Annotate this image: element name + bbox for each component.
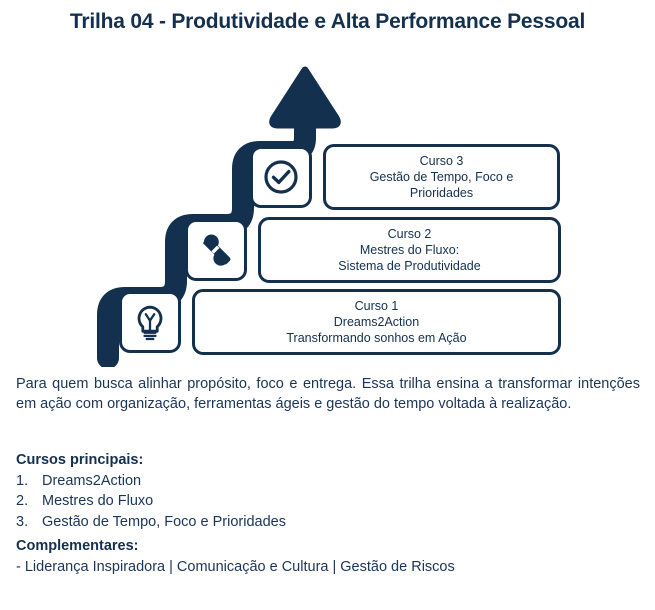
course-card-3-line-2: Gestão de Tempo, Foco e bbox=[370, 169, 514, 185]
course-card-1-line-3: Transformando sonhos em Ação bbox=[286, 330, 466, 346]
list-item: 1. Dreams2Action bbox=[16, 471, 286, 492]
course-card-2-line-1: Curso 2 bbox=[388, 226, 432, 242]
cursos-principais-heading: Cursos principais: bbox=[16, 450, 286, 471]
check-circle-icon bbox=[250, 146, 312, 208]
course-card-2-line-2: Mestres do Fluxo: bbox=[360, 242, 459, 258]
description-paragraph: Para quem busca alinhar propósito, foco … bbox=[16, 374, 640, 414]
step-curso-1[interactable]: Curso 1 Dreams2Action Transformando sonh… bbox=[119, 289, 561, 355]
list-item-label: Mestres do Fluxo bbox=[42, 491, 153, 512]
list-item: 2. Mestres do Fluxo bbox=[16, 491, 286, 512]
cursos-principais-list: 1. Dreams2Action 2. Mestres do Fluxo 3. … bbox=[16, 471, 286, 533]
tools-icon bbox=[185, 219, 247, 281]
trilha-staircase-diagram: Curso 3 Gestão de Tempo, Foco e Priorida… bbox=[0, 62, 655, 367]
complementares-section: Complementares: - Liderança Inspiradora … bbox=[16, 536, 455, 577]
list-item-label: Dreams2Action bbox=[42, 471, 141, 492]
course-card-1-line-2: Dreams2Action bbox=[334, 314, 419, 330]
step-curso-2[interactable]: Curso 2 Mestres do Fluxo: Sistema de Pro… bbox=[185, 217, 561, 283]
course-card-3[interactable]: Curso 3 Gestão de Tempo, Foco e Priorida… bbox=[323, 144, 560, 210]
cursos-principais-section: Cursos principais: 1. Dreams2Action 2. M… bbox=[16, 450, 286, 532]
course-card-3-line-1: Curso 3 bbox=[420, 153, 464, 169]
list-item-number: 3. bbox=[16, 512, 42, 533]
list-item-number: 2. bbox=[16, 491, 42, 512]
step-curso-3[interactable]: Curso 3 Gestão de Tempo, Foco e Priorida… bbox=[250, 144, 560, 210]
course-card-1-line-1: Curso 1 bbox=[355, 298, 399, 314]
course-card-1[interactable]: Curso 1 Dreams2Action Transformando sonh… bbox=[192, 289, 561, 355]
course-card-2[interactable]: Curso 2 Mestres do Fluxo: Sistema de Pro… bbox=[258, 217, 561, 283]
course-card-2-line-3: Sistema de Produtividade bbox=[338, 258, 480, 274]
page-title: Trilha 04 - Produtividade e Alta Perform… bbox=[0, 8, 655, 35]
complementares-line: - Liderança Inspiradora | Comunicação e … bbox=[16, 557, 455, 578]
course-card-3-line-3: Prioridades bbox=[410, 185, 473, 201]
list-item-number: 1. bbox=[16, 471, 42, 492]
list-item: 3. Gestão de Tempo, Foco e Prioridades bbox=[16, 512, 286, 533]
complementares-heading: Complementares: bbox=[16, 536, 455, 557]
lightbulb-icon bbox=[119, 291, 181, 353]
list-item-label: Gestão de Tempo, Foco e Prioridades bbox=[42, 512, 286, 533]
